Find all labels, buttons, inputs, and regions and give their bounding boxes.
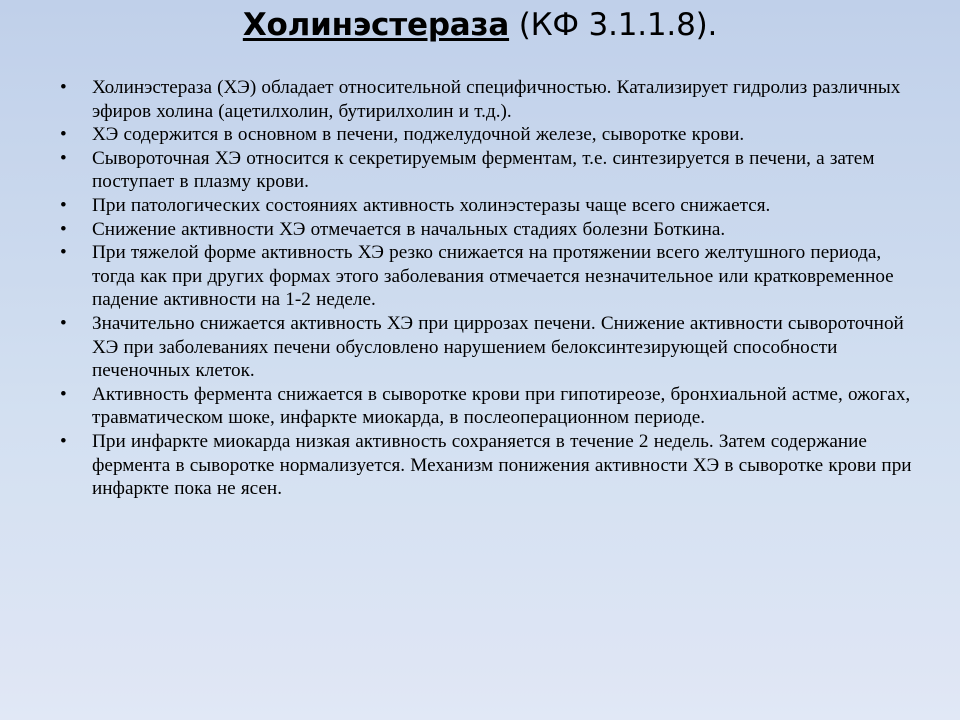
bullet-icon: • [60,123,74,147]
bullet-icon: • [60,241,74,265]
list-item: • Активность фермента снижается в сыворо… [52,383,920,430]
list-item: • ХЭ содержится в основном в печени, под… [52,123,920,147]
list-item: • При инфаркте миокарда низкая активност… [52,430,920,501]
bullet-icon: • [60,218,74,242]
list-item-text: Снижение активности ХЭ отмечается в нача… [92,218,920,242]
bullet-list: • Холинэстераза (ХЭ) обладает относитель… [52,76,920,501]
list-item-text: ХЭ содержится в основном в печени, подже… [92,123,920,147]
list-item-text: Сывороточная ХЭ относится к секретируемы… [92,147,920,194]
bullet-icon: • [60,76,74,100]
list-item: • Значительно снижается активность ХЭ пр… [52,312,920,383]
list-item-text: При инфаркте миокарда низкая активность … [92,430,920,501]
page-title-suffix: (КФ 3.1.1.8). [509,7,717,43]
list-item-text: Холинэстераза (ХЭ) обладает относительно… [92,76,920,123]
list-item: • Снижение активности ХЭ отмечается в на… [52,218,920,242]
page-title: Холинэстераза (КФ 3.1.1.8). [0,8,960,44]
bullet-icon: • [60,147,74,171]
bullet-icon: • [60,430,74,454]
bullet-icon: • [60,383,74,407]
list-item-text: При патологических состояниях активность… [92,194,920,218]
list-item-text: Активность фермента снижается в сыворотк… [92,383,920,430]
list-item: • Сывороточная ХЭ относится к секретируе… [52,147,920,194]
list-item: • При патологических состояниях активнос… [52,194,920,218]
slide-canvas: Холинэстераза (КФ 3.1.1.8). • Холинэстер… [0,0,960,720]
list-item: • При тяжелой форме активность ХЭ резко … [52,241,920,312]
list-item-text: При тяжелой форме активность ХЭ резко сн… [92,241,920,312]
bullet-icon: • [60,312,74,336]
list-item: • Холинэстераза (ХЭ) обладает относитель… [52,76,920,123]
bullet-icon: • [60,194,74,218]
list-item-text: Значительно снижается активность ХЭ при … [92,312,920,383]
page-title-main: Холинэстераза [243,7,509,43]
